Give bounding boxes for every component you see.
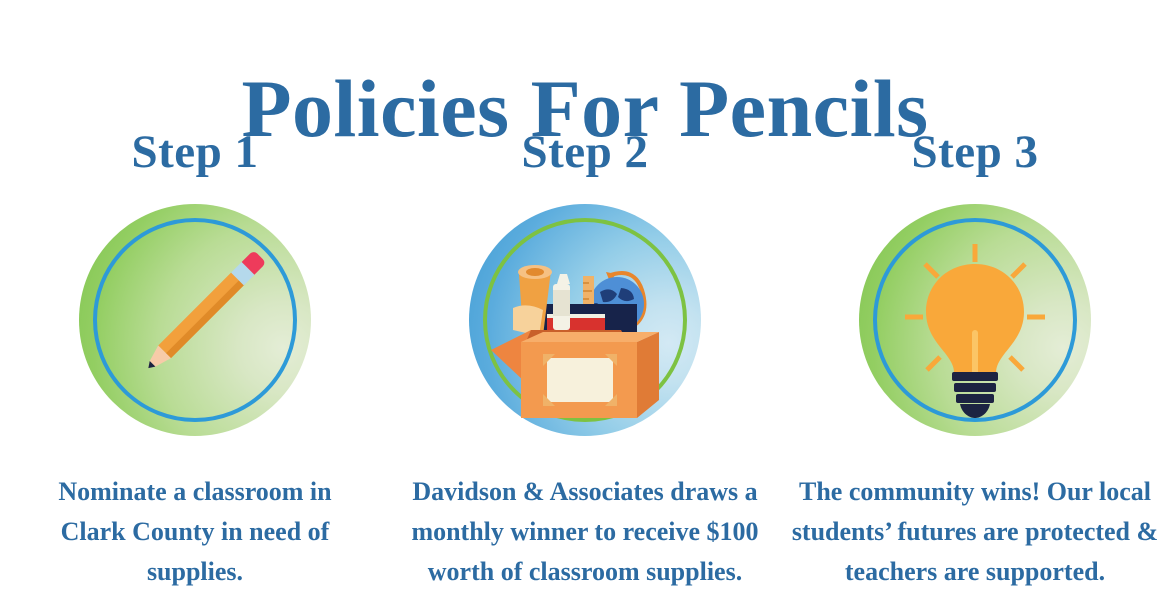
step-badge-3 bbox=[859, 204, 1091, 436]
step-badge-1 bbox=[79, 204, 311, 436]
glue-bottle-shape bbox=[553, 274, 570, 330]
lightbulb-icon bbox=[859, 204, 1091, 436]
supply-box-icon bbox=[469, 204, 701, 436]
step-column-1: Step 1 bbox=[0, 122, 390, 592]
step-column-3: Step 3 bbox=[780, 122, 1170, 592]
step-caption-3: The community wins! Our local students’ … bbox=[789, 472, 1161, 592]
step-column-2: Step 2 bbox=[390, 122, 780, 592]
step-caption-1: Nominate a classroom in Clark County in … bbox=[45, 472, 345, 592]
steps-row: Step 1 bbox=[0, 122, 1170, 592]
bulb-base-shape bbox=[952, 372, 998, 418]
pencil-icon bbox=[79, 204, 311, 436]
step-heading-1: Step 1 bbox=[131, 122, 258, 182]
infographic-poster: Policies For Pencils Step 1 bbox=[0, 0, 1170, 613]
step-badge-2 bbox=[469, 204, 701, 436]
filament-shape bbox=[972, 330, 978, 375]
step-caption-2: Davidson & Associates draws a monthly wi… bbox=[394, 472, 776, 592]
step-heading-2: Step 2 bbox=[521, 122, 648, 182]
step-heading-3: Step 3 bbox=[911, 122, 1038, 182]
